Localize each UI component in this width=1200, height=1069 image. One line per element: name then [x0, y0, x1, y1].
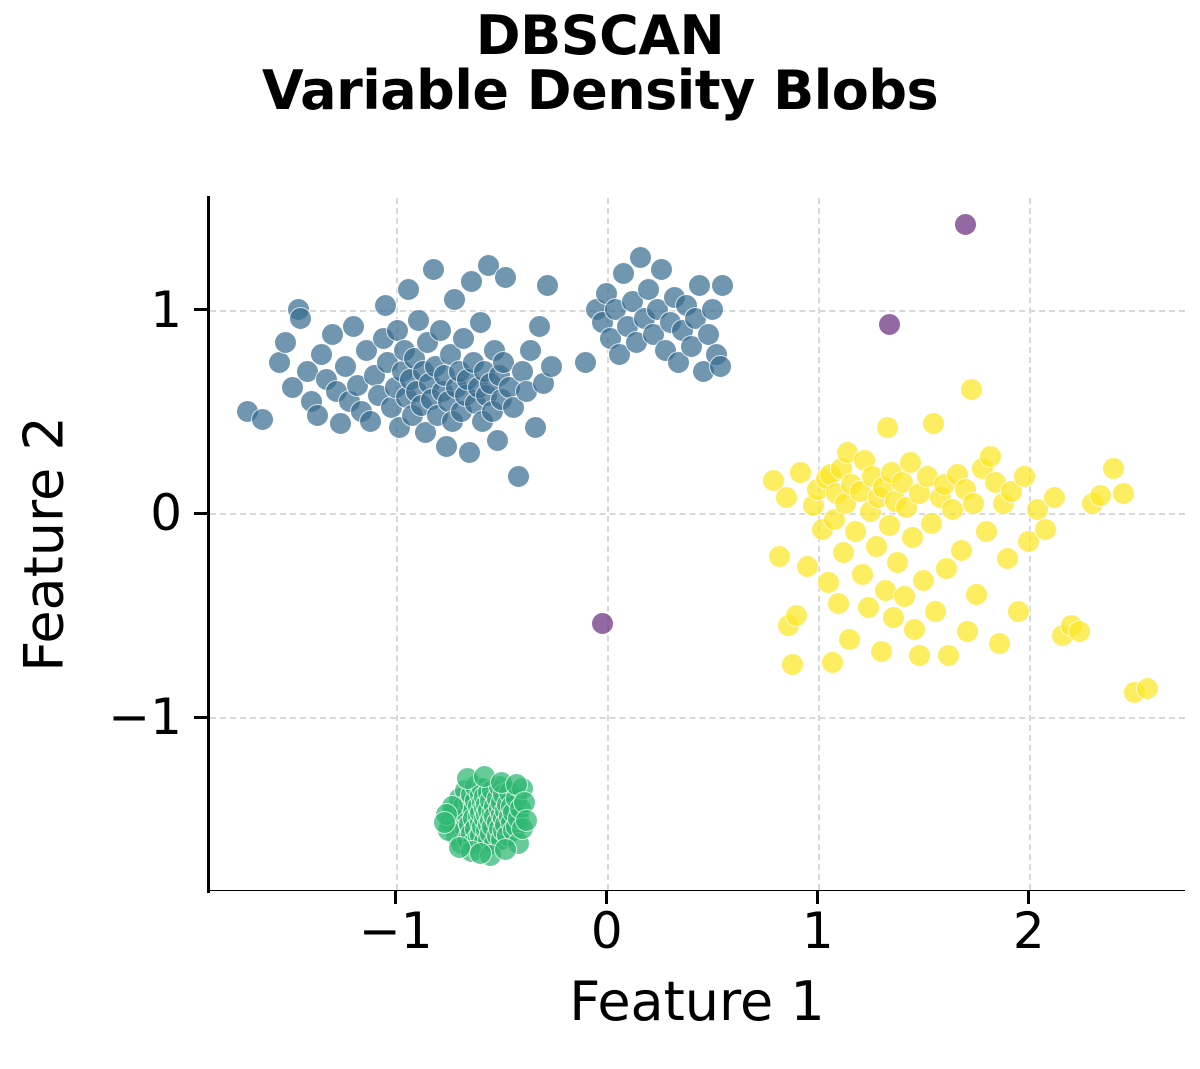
data-point-yellow-cluster — [1089, 484, 1112, 507]
data-point-blue-cluster — [469, 311, 492, 334]
data-point-noise-points — [878, 313, 901, 336]
data-point-green-cluster — [515, 809, 538, 832]
data-point-yellow-cluster — [796, 555, 819, 578]
chart-title-line2: Variable Density Blobs — [262, 59, 938, 122]
data-point-yellow-cluster — [935, 557, 958, 580]
y-tick-mark — [194, 512, 208, 515]
y-tick-mark — [194, 308, 208, 311]
y-tick-label: 1 — [150, 285, 182, 335]
data-point-yellow-cluster — [924, 600, 947, 623]
data-point-yellow-cluster — [785, 604, 808, 627]
data-point-yellow-cluster — [1112, 482, 1135, 505]
data-point-yellow-cluster — [893, 585, 916, 608]
data-point-blue-cluster — [306, 404, 329, 427]
data-point-blue-cluster — [329, 412, 352, 435]
data-point-yellow-cluster — [988, 632, 1011, 655]
data-point-blue-cluster — [536, 274, 559, 297]
data-point-blue-cluster — [524, 416, 547, 439]
data-point-green-cluster — [469, 842, 492, 865]
gridline-vertical — [818, 198, 820, 890]
data-point-blue-cluster — [443, 288, 466, 311]
data-point-yellow-cluster — [912, 569, 935, 592]
chart-figure: DBSCANVariable Density Blobs −1012 −101 … — [0, 0, 1200, 1069]
data-point-yellow-cluster — [1007, 600, 1030, 623]
data-point-yellow-cluster — [1043, 486, 1066, 509]
data-point-blue-cluster — [268, 351, 291, 374]
data-point-yellow-cluster — [768, 545, 791, 568]
data-point-yellow-cluster — [838, 628, 861, 651]
data-point-yellow-cluster — [851, 563, 874, 586]
data-point-green-cluster — [433, 811, 456, 834]
data-point-blue-cluster — [310, 343, 333, 366]
data-point-yellow-cluster — [1034, 518, 1057, 541]
data-point-blue-cluster — [709, 355, 732, 378]
plot-area — [210, 198, 1185, 890]
data-point-noise-points — [591, 612, 614, 635]
y-tick-mark — [194, 716, 208, 719]
x-tick-label: 2 — [1013, 906, 1045, 956]
chart-title: DBSCANVariable Density Blobs — [0, 8, 1200, 118]
x-tick-label: 1 — [802, 906, 834, 956]
data-point-blue-cluster — [511, 360, 534, 383]
data-point-blue-cluster — [650, 258, 673, 281]
data-point-yellow-cluster — [886, 551, 909, 574]
data-point-yellow-cluster — [937, 644, 960, 667]
data-point-yellow-cluster — [821, 651, 844, 674]
data-point-yellow-cluster — [775, 486, 798, 509]
data-point-yellow-cluster — [832, 541, 855, 564]
data-point-yellow-cluster — [882, 606, 905, 629]
gridline-horizontal — [210, 717, 1185, 719]
data-point-yellow-cluster — [876, 416, 899, 439]
data-point-yellow-cluster — [975, 520, 998, 543]
data-point-yellow-cluster — [903, 618, 926, 641]
data-point-yellow-cluster — [1013, 465, 1036, 488]
data-point-blue-cluster — [289, 307, 312, 330]
data-point-green-cluster — [494, 838, 517, 861]
data-point-blue-cluster — [688, 274, 711, 297]
data-point-blue-cluster — [629, 246, 652, 269]
data-point-yellow-cluster — [908, 644, 931, 667]
data-point-yellow-cluster — [901, 526, 924, 549]
data-point-green-cluster — [448, 836, 471, 859]
data-point-blue-cluster — [407, 309, 430, 332]
x-axis-label: Feature 1 — [569, 970, 825, 1033]
data-point-yellow-cluster — [857, 596, 880, 619]
data-point-yellow-cluster — [920, 512, 943, 535]
data-point-blue-cluster — [574, 351, 597, 374]
data-point-yellow-cluster — [950, 539, 973, 562]
data-point-blue-cluster — [342, 315, 365, 338]
data-point-yellow-cluster — [941, 498, 964, 521]
data-point-yellow-cluster — [827, 592, 850, 615]
data-point-yellow-cluster — [996, 547, 1019, 570]
x-tick-label: 0 — [591, 906, 623, 956]
data-point-yellow-cluster — [956, 620, 979, 643]
data-point-blue-cluster — [422, 258, 445, 281]
data-point-yellow-cluster — [1068, 620, 1091, 643]
data-point-yellow-cluster — [1102, 457, 1125, 480]
data-point-blue-cluster — [429, 319, 452, 342]
data-point-blue-cluster — [519, 339, 542, 362]
data-point-yellow-cluster — [965, 583, 988, 606]
data-point-noise-points — [954, 213, 977, 236]
data-point-blue-cluster — [701, 298, 724, 321]
data-point-blue-cluster — [494, 266, 517, 289]
data-point-blue-cluster — [374, 294, 397, 317]
data-point-blue-cluster — [251, 408, 274, 431]
data-point-yellow-cluster — [878, 514, 901, 537]
data-point-blue-cluster — [274, 331, 297, 354]
data-point-yellow-cluster — [817, 571, 840, 594]
data-point-blue-cluster — [435, 435, 458, 458]
data-point-blue-cluster — [359, 410, 382, 433]
y-axis-label: Feature 2 — [13, 416, 76, 672]
y-tick-label: 0 — [150, 488, 182, 538]
data-point-yellow-cluster — [962, 492, 985, 515]
data-point-blue-cluster — [528, 315, 551, 338]
data-point-blue-cluster — [397, 278, 420, 301]
data-point-yellow-cluster — [922, 412, 945, 435]
data-point-blue-cluster — [507, 465, 530, 488]
chart-title-line1: DBSCAN — [476, 4, 725, 67]
data-point-yellow-cluster — [865, 535, 888, 558]
data-point-yellow-cluster — [960, 378, 983, 401]
data-point-yellow-cluster — [1136, 677, 1159, 700]
x-tick-label: −1 — [359, 906, 433, 956]
y-tick-label: −1 — [108, 692, 182, 742]
data-point-yellow-cluster — [844, 520, 867, 543]
data-point-yellow-cluster — [781, 653, 804, 676]
data-point-blue-cluster — [486, 429, 509, 452]
data-point-yellow-cluster — [979, 445, 1002, 468]
data-point-blue-cluster — [540, 355, 563, 378]
data-point-yellow-cluster — [870, 640, 893, 663]
data-point-blue-cluster — [458, 441, 481, 464]
data-point-blue-cluster — [321, 323, 344, 346]
data-point-blue-cluster — [711, 274, 734, 297]
